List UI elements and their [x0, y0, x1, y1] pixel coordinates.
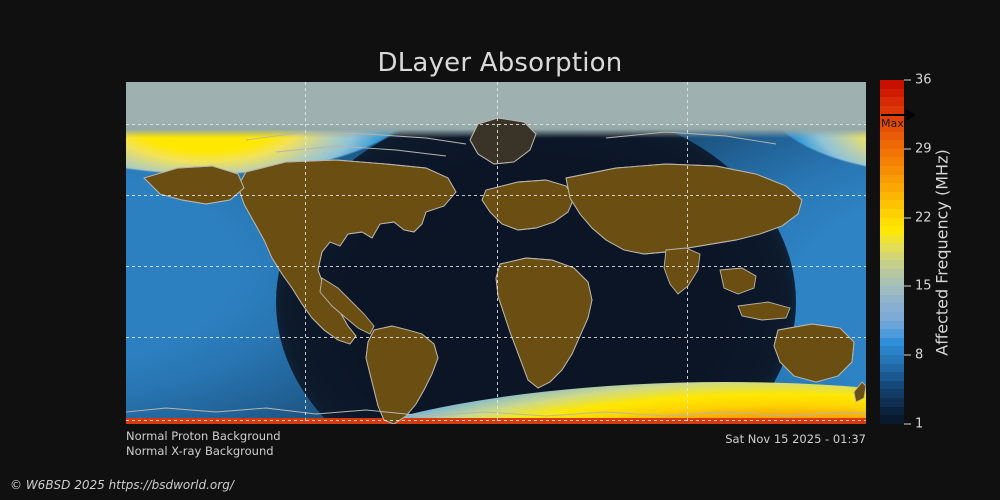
colorbar-swatch: [880, 303, 904, 312]
colorbar-swatch: [880, 269, 904, 278]
colorbar-swatch: [880, 226, 904, 235]
colorbar-swatch: [880, 260, 904, 269]
colorbar-swatch: [880, 218, 904, 227]
colorbar-swatch: [880, 235, 904, 244]
colorbar-swatch: [880, 321, 904, 330]
colorbar-tick-label: 1: [915, 417, 923, 432]
colorbar-tick: 8: [904, 348, 923, 363]
colorbar-tick-mark: [904, 80, 911, 81]
dlayer-absorption-app: DLayer Absorption: [0, 0, 1000, 500]
colorbar[interactable]: Max 3629221581: [880, 80, 904, 424]
colorbar-swatch: [880, 364, 904, 373]
colorbar-swatch: [880, 140, 904, 149]
colorbar-tick-label: 8: [915, 348, 923, 363]
colorbar-swatch: [880, 243, 904, 252]
colorbar-swatch: [880, 200, 904, 209]
page-title: DLayer Absorption: [0, 48, 1000, 78]
colorbar-tick: 22: [904, 210, 932, 225]
continents-overlay: [126, 82, 866, 424]
status-proton-background: Normal Proton Background: [126, 429, 281, 444]
colorbar-swatch: [880, 381, 904, 390]
colorbar-swatch: [880, 338, 904, 347]
colorbar-swatch: [880, 97, 904, 106]
colorbar-swatch: [880, 398, 904, 407]
colorbar-swatch: [880, 149, 904, 158]
colorbar-swatch: [880, 295, 904, 304]
colorbar-swatch: [880, 89, 904, 98]
status-messages: Normal Proton Background Normal X-ray Ba…: [126, 429, 281, 459]
colorbar-swatch: [880, 286, 904, 295]
colorbar-tick-mark: [904, 148, 911, 149]
max-marker-label: Max: [881, 117, 904, 130]
colorbar-swatch: [880, 252, 904, 261]
colorbar-swatch: [880, 192, 904, 201]
copyright: © W6BSD 2025 https://bsdworld.org/: [10, 478, 234, 492]
colorbar-swatch: [880, 175, 904, 184]
colorbar-swatch: [880, 166, 904, 175]
colorbar-tick: 15: [904, 279, 932, 294]
colorbar-swatch: [880, 157, 904, 166]
colorbar-swatch: [880, 372, 904, 381]
colorbar-tick: 1: [904, 417, 923, 432]
colorbar-axis-label: Affected Frequency (MHz): [930, 80, 954, 424]
colorbar-swatch: [880, 80, 904, 89]
colorbar-swatch: [880, 183, 904, 192]
colorbar-tick: 36: [904, 73, 932, 88]
status-xray-background: Normal X-ray Background: [126, 444, 281, 459]
colorbar-tick: 29: [904, 141, 932, 156]
colorbar-swatch: [880, 389, 904, 398]
timestamp: Sat Nov 15 2025 - 01:37: [725, 432, 866, 446]
colorbar-swatch: [880, 415, 904, 424]
colorbar-swatch: [880, 346, 904, 355]
absorption-map[interactable]: [126, 82, 866, 424]
colorbar-swatch: [880, 312, 904, 321]
colorbar-axis-label-text: Affected Frequency (MHz): [933, 149, 952, 355]
colorbar-swatch: [880, 278, 904, 287]
colorbar-tick-mark: [904, 424, 911, 425]
colorbar-swatch: [880, 407, 904, 416]
colorbar-tick-mark: [904, 217, 911, 218]
colorbar-tick-mark: [904, 286, 911, 287]
colorbar-swatch: [880, 355, 904, 364]
colorbar-tick-mark: [904, 355, 911, 356]
colorbar-swatch: [880, 329, 904, 338]
colorbar-swatch: [880, 209, 904, 218]
